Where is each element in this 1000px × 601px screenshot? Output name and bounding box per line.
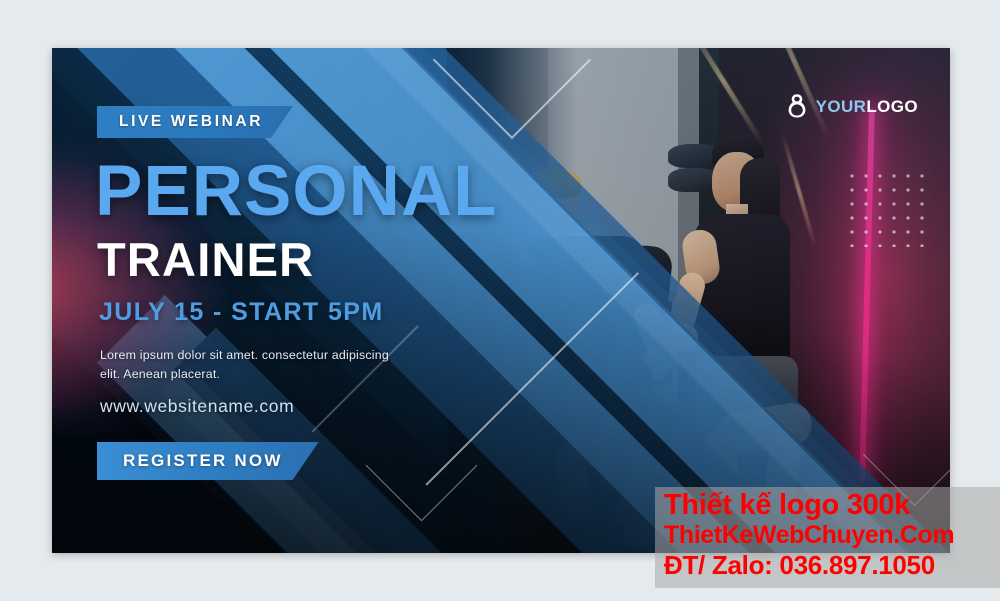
live-webinar-badge-label: LIVE WEBINAR xyxy=(119,113,263,131)
logo-text-logo: LOGO xyxy=(866,97,918,116)
headline-primary: PERSONAL xyxy=(95,156,498,227)
event-date-time: JULY 15 - START 5PM xyxy=(99,298,384,327)
watermark-overlay: Thiết kế logo 300k ThietKeWebChuyen.Com … xyxy=(655,487,1000,588)
brand-logo[interactable]: YOURLOGO xyxy=(784,92,918,120)
promo-banner: LIVE WEBINAR PERSONAL TRAINER JULY 15 - … xyxy=(52,48,950,553)
logo-text: YOURLOGO xyxy=(816,98,918,115)
register-now-button-label: REGISTER NOW xyxy=(123,451,283,471)
watermark-line-1: Thiết kế logo 300k xyxy=(664,489,910,522)
watermark-line-2: ThietKeWebChuyen.Com xyxy=(664,521,954,550)
kettlebell-icon xyxy=(784,92,810,120)
watermark-line-3: ĐT/ Zalo: 036.897.1050 xyxy=(664,550,935,581)
website-url[interactable]: www.websitename.com xyxy=(100,396,294,417)
headline-secondary: TRAINER xyxy=(97,236,314,283)
logo-text-your: YOUR xyxy=(816,97,867,116)
banner-content: LIVE WEBINAR PERSONAL TRAINER JULY 15 - … xyxy=(52,48,950,553)
live-webinar-badge: LIVE WEBINAR xyxy=(97,106,293,138)
screenshot-canvas: LIVE WEBINAR PERSONAL TRAINER JULY 15 - … xyxy=(0,0,1000,601)
register-now-button[interactable]: REGISTER NOW xyxy=(97,442,319,480)
description-text: Lorem ipsum dolor sit amet. consectetur … xyxy=(100,346,400,383)
